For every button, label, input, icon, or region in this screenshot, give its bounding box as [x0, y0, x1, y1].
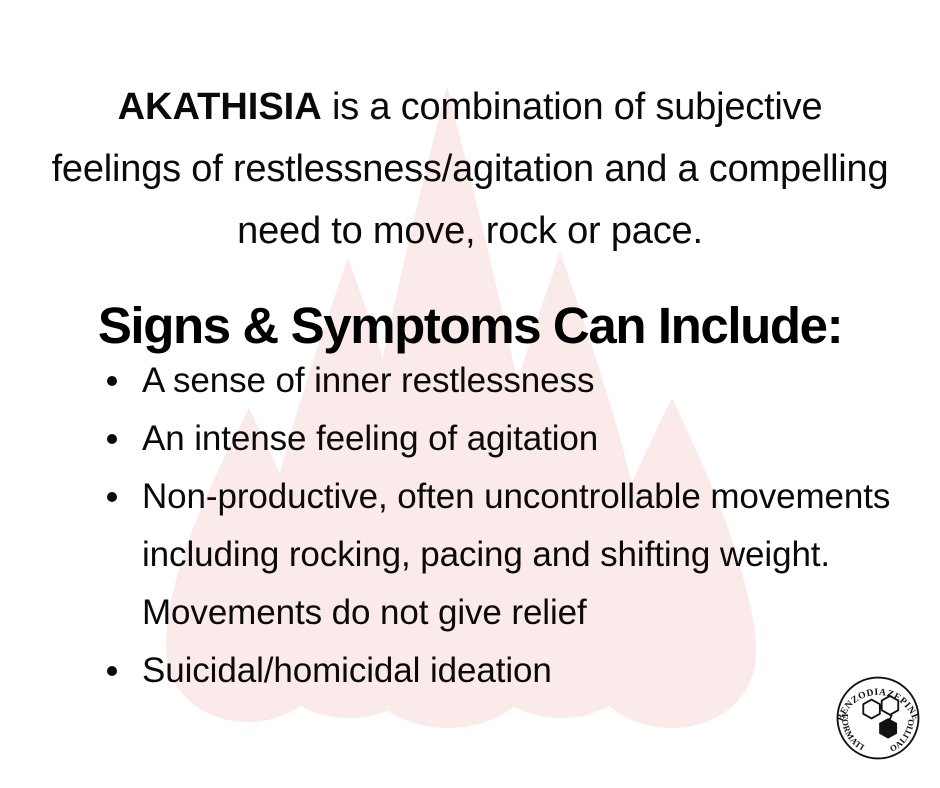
- list-item: A sense of inner restlessness: [104, 352, 894, 410]
- bullet-dot-icon: [107, 666, 117, 676]
- hexagon-left-ring: [863, 700, 880, 719]
- infographic-canvas: AKATHISIA is a combination of subjective…: [0, 0, 940, 788]
- list-item-label: Non-productive, often uncontrollable mov…: [142, 477, 890, 632]
- bullet-dot-icon: [107, 376, 117, 386]
- list-item-label: Suicidal/homicidal ideation: [142, 651, 552, 690]
- bullet-dot-icon: [107, 434, 117, 444]
- benzodiazepine-information-coalition-logo: BENZODIAZEPINE INFORMATION COALITION: [832, 672, 924, 764]
- list-item: Non-productive, often uncontrollable mov…: [104, 468, 894, 642]
- akathisia-keyword: AKATHISIA: [118, 86, 322, 128]
- symptoms-list: A sense of inner restlessness An intense…: [104, 352, 894, 700]
- intro-paragraph: AKATHISIA is a combination of subjective…: [50, 76, 890, 262]
- list-item: Suicidal/homicidal ideation: [104, 642, 894, 700]
- hexagon-filled-ring: [880, 719, 897, 738]
- section-heading: Signs & Symptoms Can Include:: [30, 297, 910, 355]
- list-item-label: An intense feeling of agitation: [142, 419, 598, 458]
- bullet-dot-icon: [107, 492, 117, 502]
- list-item: An intense feeling of agitation: [104, 410, 894, 468]
- list-item-label: A sense of inner restlessness: [142, 361, 594, 400]
